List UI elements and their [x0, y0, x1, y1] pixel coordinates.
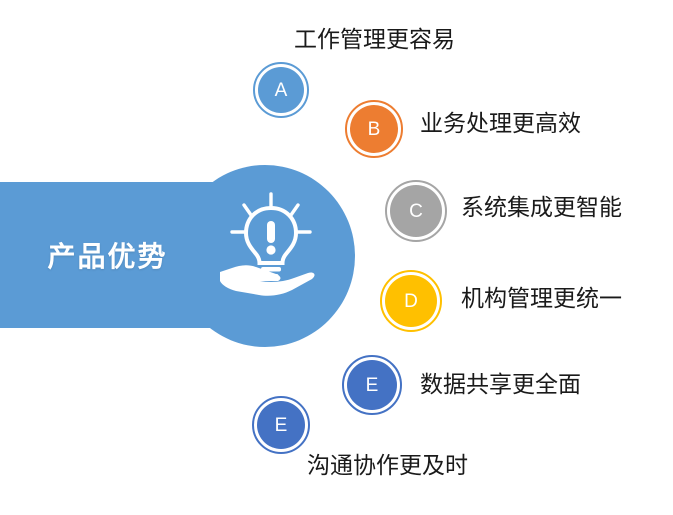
- badge-e-fifth-letter: E: [366, 376, 379, 395]
- item-label-d: 机构管理更统一: [461, 287, 622, 310]
- badge-e-sixth[interactable]: E: [252, 396, 310, 454]
- lightbulb-in-hand-icon: [218, 188, 324, 300]
- badge-b[interactable]: B: [345, 100, 403, 158]
- item-label-c: 系统集成更智能: [461, 196, 622, 219]
- badge-e-sixth-letter: E: [275, 416, 288, 435]
- badge-a-letter: A: [275, 81, 288, 100]
- item-label-a: 工作管理更容易: [294, 28, 455, 51]
- badge-c[interactable]: C: [385, 180, 447, 242]
- item-label-b: 业务处理更高效: [420, 112, 581, 135]
- banner-title: 产品优势: [0, 182, 215, 328]
- item-label-e-fifth: 数据共享更全面: [420, 373, 581, 396]
- badge-d-letter: D: [404, 292, 418, 311]
- badge-e-fifth[interactable]: E: [342, 355, 402, 415]
- badge-a[interactable]: A: [253, 62, 309, 118]
- product-advantage-banner: 产品优势: [0, 160, 340, 350]
- badge-c-letter: C: [409, 202, 423, 221]
- badge-d[interactable]: D: [380, 270, 442, 332]
- infographic-canvas: 产品优势 A 工作管理更容易: [0, 0, 673, 515]
- badge-b-letter: B: [368, 120, 381, 139]
- item-label-e-sixth: 沟通协作更及时: [307, 454, 468, 477]
